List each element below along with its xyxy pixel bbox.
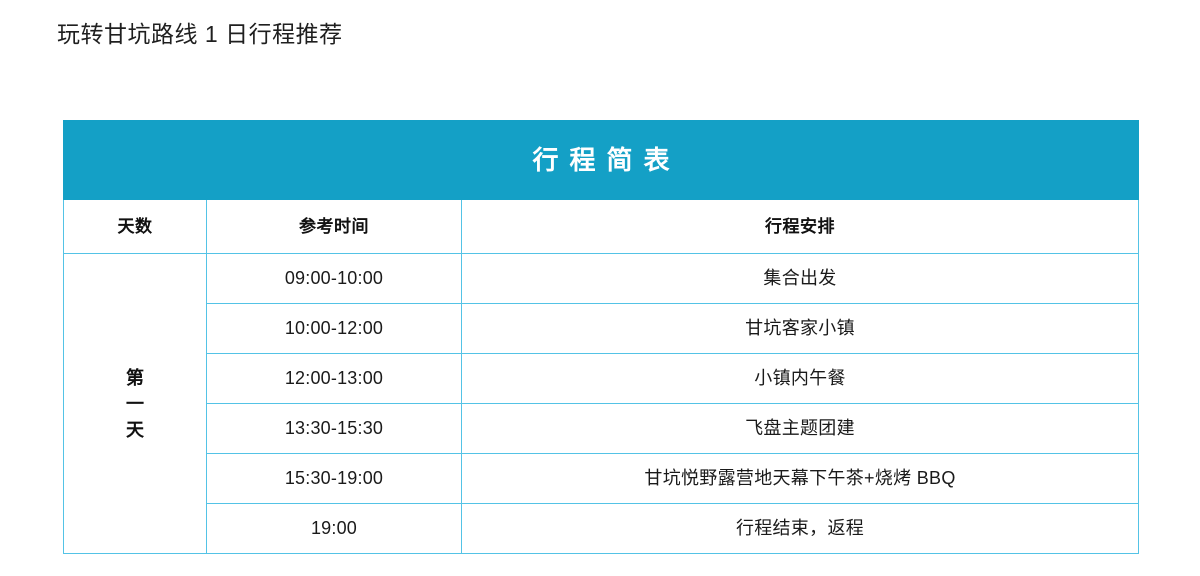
cell-time-text: 13:30-15:30 bbox=[207, 404, 461, 453]
table-row: 19:00 行程结束，返程 bbox=[64, 504, 1139, 554]
cell-plan: 飞盘主题团建 bbox=[462, 404, 1139, 454]
itinerary-table: 行程简表 天数 参考时间 行程安排 第一天 09:00-10 bbox=[63, 120, 1139, 554]
cell-time-text: 10:00-12:00 bbox=[207, 304, 461, 353]
cell-plan-text: 行程结束，返程 bbox=[462, 504, 1138, 553]
page-title: 玩转甘坑路线 1 日行程推荐 bbox=[57, 18, 343, 50]
cell-time: 19:00 bbox=[207, 504, 462, 554]
column-header-day: 天数 bbox=[64, 200, 207, 254]
cell-time: 12:00-13:00 bbox=[207, 354, 462, 404]
table-row: 12:00-13:00 小镇内午餐 bbox=[64, 354, 1139, 404]
column-header-day-label: 天数 bbox=[64, 200, 206, 253]
cell-time-text: 15:30-19:00 bbox=[207, 454, 461, 503]
table-row: 10:00-12:00 甘坑客家小镇 bbox=[64, 304, 1139, 354]
table-banner-title: 行程简表 bbox=[64, 121, 1138, 199]
column-header-time: 参考时间 bbox=[207, 200, 462, 254]
day-group-label: 第一天 bbox=[126, 365, 144, 443]
itinerary-table-container: 行程简表 天数 参考时间 行程安排 第一天 09:00-10 bbox=[63, 120, 1138, 554]
cell-plan: 甘坑客家小镇 bbox=[462, 304, 1139, 354]
cell-time-text: 19:00 bbox=[207, 504, 461, 553]
table-row: 13:30-15:30 飞盘主题团建 bbox=[64, 404, 1139, 454]
cell-time-text: 09:00-10:00 bbox=[207, 254, 461, 303]
cell-plan-text: 甘坑客家小镇 bbox=[462, 304, 1138, 353]
cell-plan: 行程结束，返程 bbox=[462, 504, 1139, 554]
cell-time: 15:30-19:00 bbox=[207, 454, 462, 504]
cell-plan: 甘坑悦野露营地天幕下午茶+烧烤 BBQ bbox=[462, 454, 1139, 504]
cell-time: 09:00-10:00 bbox=[207, 254, 462, 304]
table-banner-row: 行程简表 bbox=[64, 121, 1139, 200]
table-row: 第一天 09:00-10:00 集合出发 bbox=[64, 254, 1139, 304]
cell-plan: 小镇内午餐 bbox=[462, 354, 1139, 404]
day-group-cell: 第一天 bbox=[64, 254, 207, 554]
cell-plan-text: 飞盘主题团建 bbox=[462, 404, 1138, 453]
cell-time-text: 12:00-13:00 bbox=[207, 354, 461, 403]
table-row: 15:30-19:00 甘坑悦野露营地天幕下午茶+烧烤 BBQ bbox=[64, 454, 1139, 504]
cell-plan-text: 小镇内午餐 bbox=[462, 354, 1138, 403]
table-header-row: 天数 参考时间 行程安排 bbox=[64, 200, 1139, 254]
column-header-plan-label: 行程安排 bbox=[462, 200, 1138, 253]
table-banner-cell: 行程简表 bbox=[64, 121, 1139, 200]
cell-time: 10:00-12:00 bbox=[207, 304, 462, 354]
column-header-plan: 行程安排 bbox=[462, 200, 1139, 254]
cell-plan-text: 甘坑悦野露营地天幕下午茶+烧烤 BBQ bbox=[462, 454, 1138, 503]
column-header-time-label: 参考时间 bbox=[207, 200, 461, 253]
cell-plan-text: 集合出发 bbox=[462, 254, 1138, 303]
cell-time: 13:30-15:30 bbox=[207, 404, 462, 454]
cell-plan: 集合出发 bbox=[462, 254, 1139, 304]
